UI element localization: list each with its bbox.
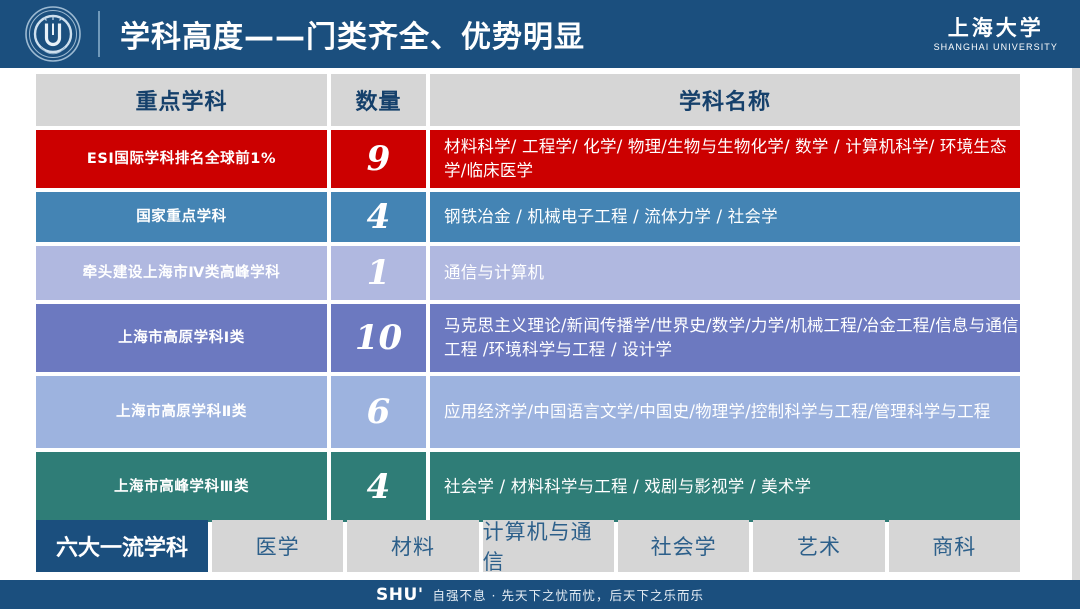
bottom-bar-item-business[interactable]: 商科 [889, 520, 1020, 572]
row-names-cell: 钢铁冶金 / 机械电子工程 / 流体力学 / 社会学 [430, 192, 1020, 242]
row-names-cell: 材料科学/ 工程学/ 化学/ 物理/生物与生物化学/ 数学 / 计算机科学/ 环… [430, 130, 1020, 188]
university-wordmark: 上海大学 SHANGHAI UNIVERSITY [934, 17, 1058, 52]
table-row[interactable]: 上海市高原学科Ⅰ类 10 马克思主义理论/新闻传播学/世界史/数学/力学/机械工… [36, 304, 1020, 372]
row-category-cell: 上海市高原学科Ⅱ类 [36, 376, 327, 448]
bottom-bar-item-materials[interactable]: 材料 [347, 520, 478, 572]
row-count-cell: 9 [331, 130, 426, 188]
row-names-text: 材料科学/ 工程学/ 化学/ 物理/生物与生物化学/ 数学 / 计算机科学/ 环… [444, 135, 1020, 183]
right-edge-strip [1072, 68, 1080, 580]
row-count-cell: 10 [331, 304, 426, 372]
row-count-cell: 4 [331, 192, 426, 242]
table-row[interactable]: 上海市高原学科Ⅱ类 6 应用经济学/中国语言文学/中国史/物理学/控制科学与工程… [36, 376, 1020, 448]
row-category-label: 上海市高峰学科Ⅲ类 [114, 478, 249, 497]
slide-header: 学科高度——门类齐全、优势明显 上海大学 SHANGHAI UNIVERSITY [0, 0, 1080, 68]
column-header-label: 重点学科 [135, 84, 227, 116]
row-names-cell: 社会学 / 材料科学与工程 / 戏剧与影视学 / 美术学 [430, 452, 1020, 522]
page-title: 学科高度——门类齐全、优势明显 [120, 12, 585, 56]
row-category-cell: 上海市高原学科Ⅰ类 [36, 304, 327, 372]
row-category-cell: 牵头建设上海市Ⅳ类高峰学科 [36, 246, 327, 300]
slide-root: 学科高度——门类齐全、优势明显 上海大学 SHANGHAI UNIVERSITY… [0, 0, 1080, 609]
table-row[interactable]: 牵头建设上海市Ⅳ类高峰学科 1 通信与计算机 [36, 246, 1020, 300]
row-category-label: 国家重点学科 [136, 208, 227, 227]
row-names-cell: 通信与计算机 [430, 246, 1020, 300]
row-names-text: 应用经济学/中国语言文学/中国史/物理学/控制科学与工程/管理科学与工程 [444, 400, 991, 424]
footer-motto: 自强不息 · 先天下之忧而忧，后天下之乐而乐 [433, 585, 704, 604]
row-names-text: 通信与计算机 [444, 261, 544, 285]
table-row[interactable]: ESI国际学科排名全球前1% 9 材料科学/ 工程学/ 化学/ 物理/生物与生物… [36, 130, 1020, 188]
row-names-cell: 马克思主义理论/新闻传播学/世界史/数学/力学/机械工程/冶金工程/信息与通信工… [430, 304, 1020, 372]
row-category-cell: 上海市高峰学科Ⅲ类 [36, 452, 327, 522]
disciplines-table: 重点学科 数量 学科名称 ESI国际学科排名全球前1% 9 材料科学/ 工程学/… [36, 74, 1020, 526]
row-count-value: 1 [367, 256, 391, 290]
table-header-row: 重点学科 数量 学科名称 [36, 74, 1020, 126]
bottom-bar-item-arts[interactable]: 艺术 [753, 520, 884, 572]
shu-university-seal-icon [24, 5, 82, 63]
table-row[interactable]: 上海市高峰学科Ⅲ类 4 社会学 / 材料科学与工程 / 戏剧与影视学 / 美术学 [36, 452, 1020, 522]
row-count-value: 4 [367, 470, 391, 504]
slide-footer: SHU' 自强不息 · 先天下之忧而忧，后天下之乐而乐 [0, 580, 1080, 609]
row-count-value: 9 [367, 142, 391, 176]
row-category-label: 上海市高原学科Ⅱ类 [116, 403, 247, 422]
row-count-value: 4 [367, 200, 391, 234]
table-header-cell-names: 学科名称 [430, 74, 1020, 126]
row-count-cell: 1 [331, 246, 426, 300]
table-header-cell-category: 重点学科 [36, 74, 327, 126]
row-category-label: 牵头建设上海市Ⅳ类高峰学科 [83, 264, 281, 283]
header-divider [98, 11, 100, 57]
row-names-text: 社会学 / 材料科学与工程 / 戏剧与影视学 / 美术学 [444, 475, 811, 499]
row-category-label: 上海市高原学科Ⅰ类 [118, 329, 245, 348]
footer-brand: SHU' [376, 585, 423, 605]
bottom-bar-title: 六大一流学科 [36, 520, 208, 572]
table-row[interactable]: 国家重点学科 4 钢铁冶金 / 机械电子工程 / 流体力学 / 社会学 [36, 192, 1020, 242]
wordmark-chinese: 上海大学 [934, 17, 1058, 38]
column-header-label: 学科名称 [679, 84, 771, 116]
row-count-value: 10 [355, 321, 402, 355]
row-names-cell: 应用经济学/中国语言文学/中国史/物理学/控制科学与工程/管理科学与工程 [430, 376, 1020, 448]
column-header-label: 数量 [355, 84, 401, 116]
table-header-cell-count: 数量 [331, 74, 426, 126]
row-category-cell: 国家重点学科 [36, 192, 327, 242]
bottom-bar-item-medicine[interactable]: 医学 [212, 520, 343, 572]
wordmark-english: SHANGHAI UNIVERSITY [934, 43, 1058, 52]
row-category-cell: ESI国际学科排名全球前1% [36, 130, 327, 188]
bottom-bar-item-sociology[interactable]: 社会学 [618, 520, 749, 572]
bottom-bar-item-computer-communication[interactable]: 计算机与通信 [483, 520, 614, 572]
row-count-value: 6 [367, 395, 391, 429]
row-count-cell: 6 [331, 376, 426, 448]
row-count-cell: 4 [331, 452, 426, 522]
row-category-label: ESI国际学科排名全球前1% [87, 150, 276, 169]
row-names-text: 马克思主义理论/新闻传播学/世界史/数学/力学/机械工程/冶金工程/信息与通信工… [444, 314, 1020, 362]
row-names-text: 钢铁冶金 / 机械电子工程 / 流体力学 / 社会学 [444, 205, 778, 229]
first-class-disciplines-bar: 六大一流学科 医学 材料 计算机与通信 社会学 艺术 商科 [36, 520, 1020, 572]
